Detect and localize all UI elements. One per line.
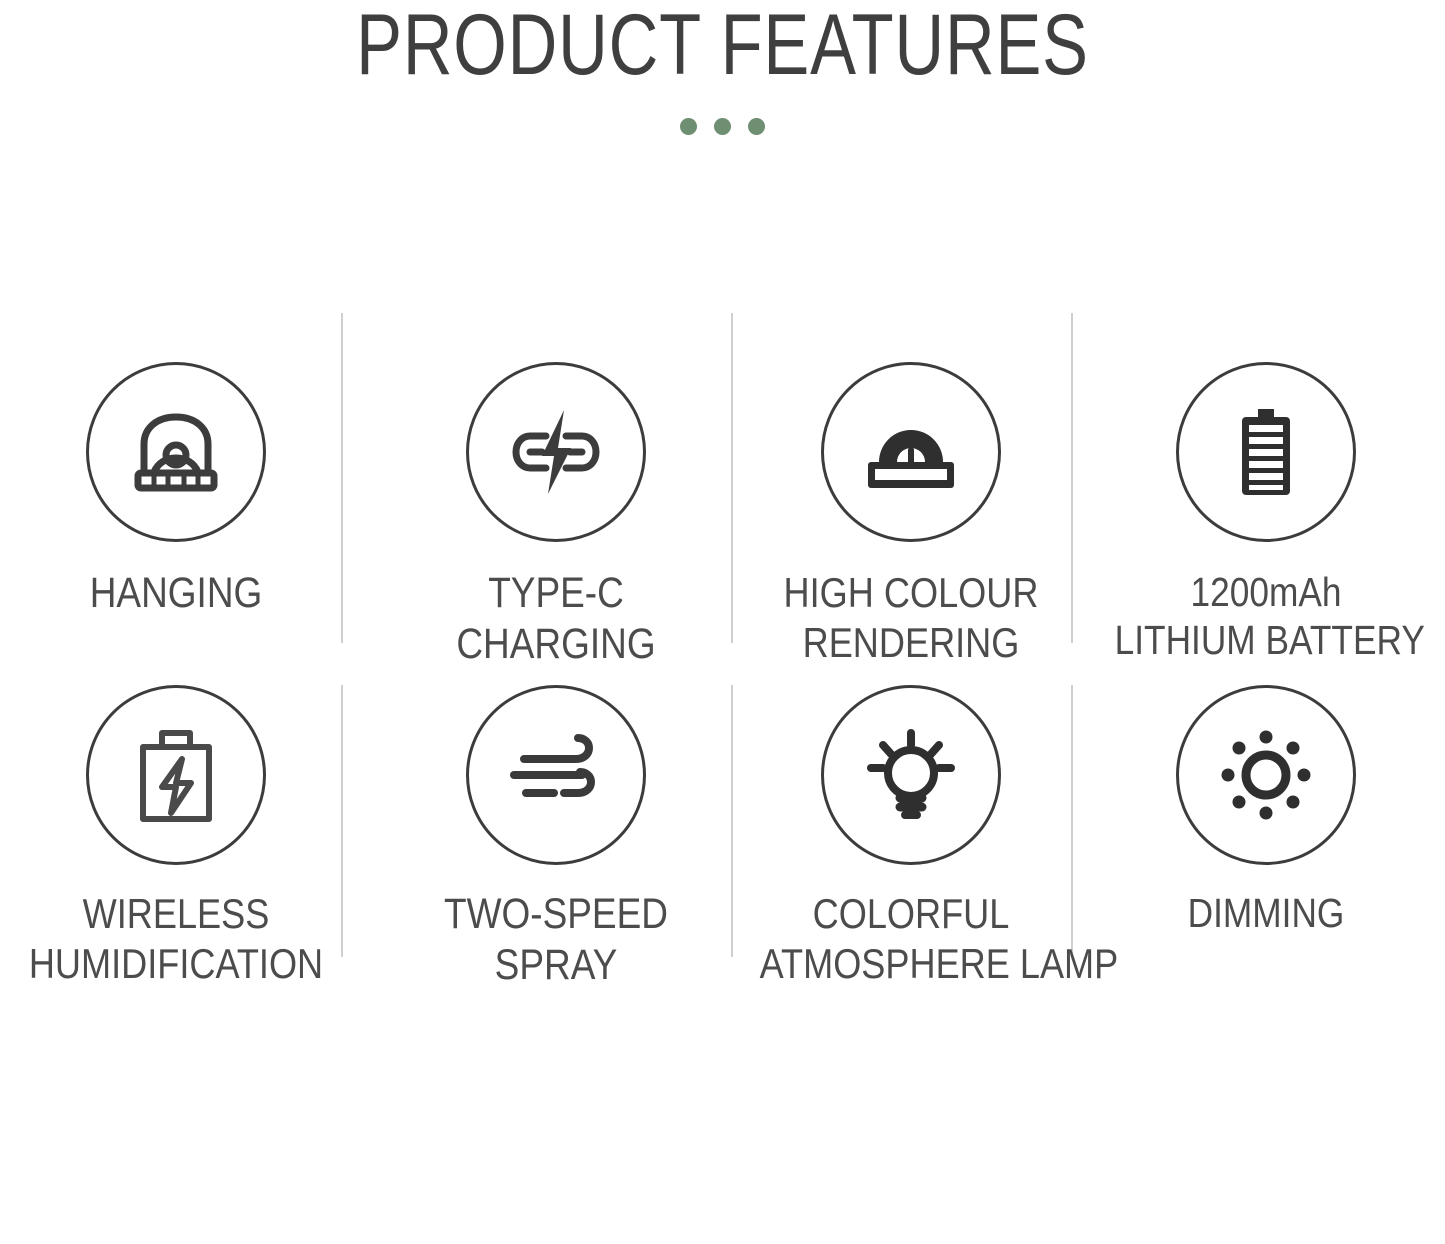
feature-item-lithium-battery[interactable]: 1200mAh LITHIUM BATTERY [1090, 300, 1442, 665]
brightness-dots-icon [1176, 685, 1356, 865]
feature-label: DIMMING [1115, 889, 1418, 937]
airflow-spray-icon [466, 685, 646, 865]
page-title: PRODUCT FEATURES [145, 0, 1301, 88]
high-colour-rendering-icon [821, 362, 1001, 542]
dot-2 [714, 118, 731, 135]
feature-label: HIGH COLOUR RENDERING [760, 568, 1063, 667]
feature-label: TWO-SPEED SPRAY [405, 889, 708, 990]
charging-link-bolt-icon [466, 362, 646, 542]
feature-item-hanging[interactable]: HANGING [0, 300, 352, 619]
dot-1 [680, 118, 697, 135]
dot-3 [748, 118, 765, 135]
feature-item-dimming[interactable]: DIMMING [1090, 655, 1442, 937]
feature-label: COLORFUL ATMOSPHERE LAMP [760, 889, 1063, 988]
feature-item-wireless-humidification[interactable]: WIRELESS HUMIDIFICATION [0, 655, 352, 988]
battery-bolt-icon [86, 685, 266, 865]
decorative-dots [0, 118, 1445, 135]
features-grid: HANGING TYPE-C CHARGING [0, 300, 1445, 955]
feature-item-high-colour-rendering[interactable]: HIGH COLOUR RENDERING [735, 300, 1087, 667]
feature-label: WIRELESS HUMIDIFICATION [25, 889, 328, 988]
feature-item-atmosphere-lamp[interactable]: COLORFUL ATMOSPHERE LAMP [735, 655, 1087, 988]
feature-label: HANGING [25, 568, 328, 619]
light-bulb-rays-icon [821, 685, 1001, 865]
page-header: PRODUCT FEATURES [0, 0, 1445, 88]
feature-label: 1200mAh LITHIUM BATTERY [1115, 568, 1418, 665]
hanging-lantern-icon [86, 362, 266, 542]
feature-item-type-c-charging[interactable]: TYPE-C CHARGING [380, 300, 732, 669]
feature-row-1: HANGING TYPE-C CHARGING [0, 300, 1445, 655]
feature-row-2: WIRELESS HUMIDIFICATION TWO-SPEED SPRAY [0, 655, 1445, 955]
feature-item-two-speed-spray[interactable]: TWO-SPEED SPRAY [380, 655, 732, 990]
battery-full-icon [1176, 362, 1356, 542]
